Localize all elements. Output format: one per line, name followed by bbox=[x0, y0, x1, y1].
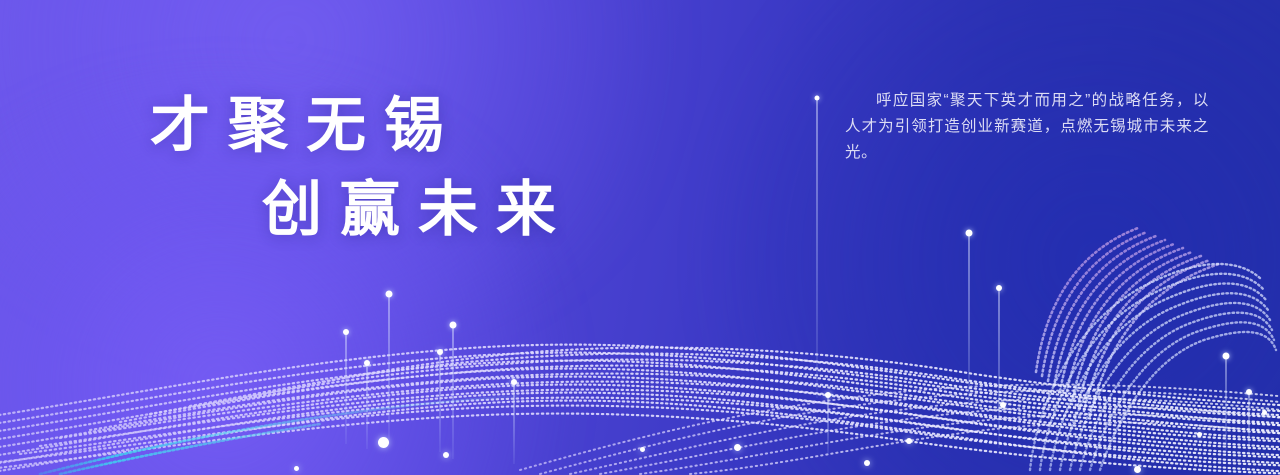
decor-pin-line bbox=[361, 363, 373, 449]
decor-dot bbox=[864, 460, 870, 466]
decor-pin-line bbox=[340, 332, 352, 444]
decor-dot bbox=[906, 438, 912, 444]
decor-pin-stem bbox=[969, 233, 970, 423]
decor-pin-head bbox=[343, 329, 349, 335]
headline: 才聚无锡 创赢未来 bbox=[150, 84, 574, 252]
decor-dot bbox=[443, 452, 449, 458]
decor-pin-stem bbox=[1249, 392, 1250, 454]
decor-pin-head bbox=[966, 230, 973, 237]
decor-pin-stem bbox=[389, 294, 390, 444]
headline-line-2: 创赢未来 bbox=[262, 168, 574, 252]
tagline-text: 呼应国家“聚天下英才而用之”的战略任务，以人才为引领打造创业新赛道，点燃无锡城市… bbox=[845, 88, 1209, 166]
decor-dot bbox=[1134, 466, 1141, 473]
decor-pin-line bbox=[1243, 392, 1255, 454]
decor-pin-line bbox=[508, 382, 520, 464]
decor-pin-head bbox=[386, 291, 393, 298]
divider-pin-line bbox=[812, 98, 822, 398]
decor-pin-head bbox=[996, 285, 1002, 291]
decor-pin-stem bbox=[367, 363, 368, 449]
decor-pin-line bbox=[434, 352, 446, 452]
divider-pin-stem bbox=[817, 98, 818, 398]
decor-dot bbox=[734, 444, 741, 451]
decor-pin-head bbox=[364, 360, 370, 366]
decor-pin-line bbox=[963, 233, 975, 423]
divider-pin-head bbox=[815, 96, 820, 101]
decor-pin-stem bbox=[346, 332, 347, 444]
decor-pin-head bbox=[511, 379, 517, 385]
decor-pin-head bbox=[1246, 389, 1252, 395]
decor-pin-line bbox=[993, 288, 1005, 448]
decor-pin-stem bbox=[514, 382, 515, 464]
decor-pin-line bbox=[822, 395, 834, 455]
decor-pin-stem bbox=[1226, 356, 1227, 452]
decor-pin-stem bbox=[828, 395, 829, 455]
decor-dot bbox=[1197, 432, 1202, 437]
decor-pin-head bbox=[437, 349, 443, 355]
decor-pin-stem bbox=[440, 352, 441, 452]
decor-pin-head bbox=[825, 392, 831, 398]
decor-pin-head bbox=[450, 322, 457, 329]
decor-dot bbox=[294, 466, 299, 471]
decor-dot bbox=[1000, 402, 1006, 408]
decor-dot bbox=[1262, 410, 1267, 415]
decor-pin-head bbox=[1223, 353, 1230, 360]
decor-dot bbox=[378, 437, 389, 448]
decor-pin-line bbox=[1220, 356, 1232, 452]
decor-pin-line bbox=[382, 294, 396, 444]
decor-pin-stem bbox=[999, 288, 1000, 448]
promo-banner: 才聚无锡 创赢未来 呼应国家“聚天下英才而用之”的战略任务，以人才为引领打造创业… bbox=[0, 0, 1280, 475]
headline-line-1: 才聚无锡 bbox=[150, 84, 574, 168]
decor-dot bbox=[640, 447, 645, 452]
decor-pin-stem bbox=[453, 325, 454, 459]
decor-pin-line bbox=[446, 325, 460, 459]
